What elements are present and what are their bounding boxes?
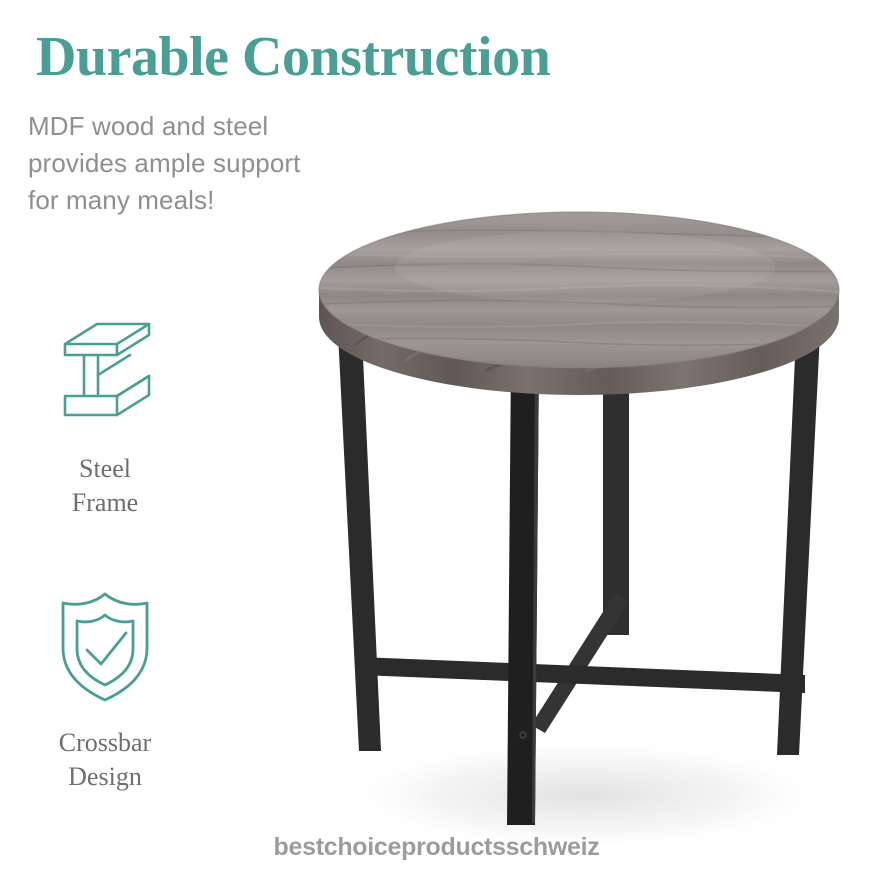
tabletop-sheen: [395, 231, 775, 303]
steel-i-beam-icon: [51, 318, 159, 426]
page-title: Durable Construction: [36, 28, 550, 87]
feature-crossbar-design-label: Crossbar Design: [0, 726, 210, 794]
feature-crossbar-design: Crossbar Design: [0, 586, 210, 794]
dining-table-illustration: [285, 195, 873, 845]
floor-shadow: [335, 739, 835, 845]
subtitle-line-2: provides ample support: [28, 145, 428, 182]
infographic-page: Durable Construction MDF wood and steel …: [0, 0, 873, 873]
feature-steel-frame-label: Steel Frame: [0, 452, 210, 520]
leg-bolt-center: [521, 733, 524, 736]
feature-steel-frame: Steel Frame: [0, 312, 210, 520]
feature-label-line-1: Crossbar: [0, 726, 210, 760]
watermark-text: bestchoiceproductsschweiz: [0, 833, 873, 862]
feature-label-line-2: Design: [0, 760, 210, 794]
steel-i-beam-icon-wrap: [0, 312, 210, 432]
feature-label-line-1: Steel: [0, 452, 210, 486]
subtitle-line-1: MDF wood and steel: [28, 108, 428, 145]
product-image-round-dining-table: [285, 195, 873, 845]
table-leg-far-left: [337, 313, 381, 751]
shield-check-icon: [49, 586, 161, 706]
feature-label-line-2: Frame: [0, 486, 210, 520]
crossbar-diagonal: [531, 593, 629, 733]
shield-check-icon-wrap: [0, 586, 210, 706]
